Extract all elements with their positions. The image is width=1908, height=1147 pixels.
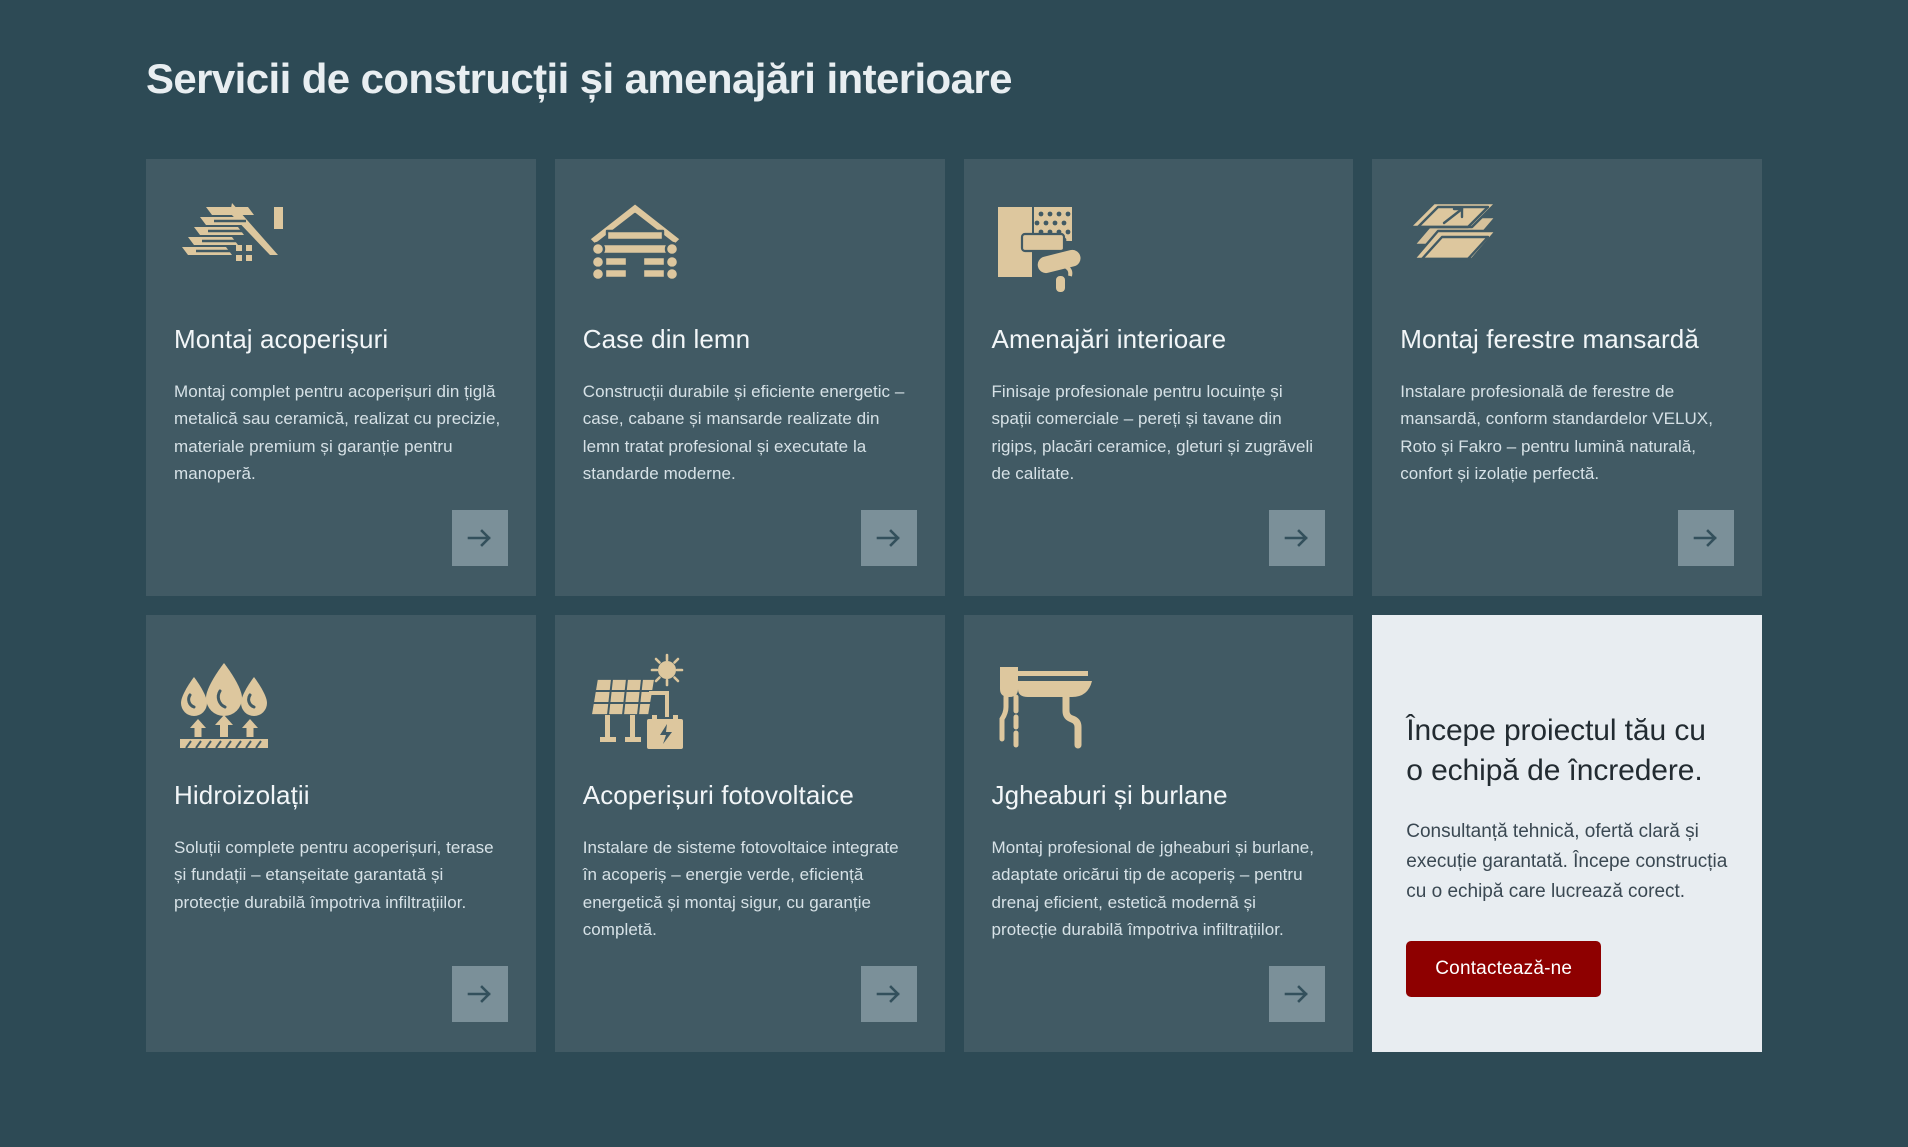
card-arrow-button[interactable] [1269, 510, 1325, 566]
paint-roller-icon [992, 197, 1326, 301]
arrow-right-icon [467, 528, 493, 548]
tiled-roof-house-icon [174, 197, 508, 301]
card-description: Montaj profesional de jgheaburi și burla… [992, 834, 1322, 944]
page-title: Servicii de construcții și amenajări int… [146, 0, 1762, 104]
services-grid: Montaj acoperișuri Montaj complet pentru… [146, 159, 1762, 1052]
cta-description: Consultanță tehnică, ofertă clară și exe… [1406, 817, 1728, 907]
service-card-case-din-lemn[interactable]: Case din lemn Construcții durabile și ef… [555, 159, 945, 596]
solar-panel-icon [583, 653, 917, 757]
card-arrow-button[interactable] [452, 966, 508, 1022]
card-arrow-button[interactable] [861, 510, 917, 566]
card-description: Construcții durabile și eficiente energe… [583, 378, 913, 488]
arrow-right-icon [876, 528, 902, 548]
card-description: Montaj complet pentru acoperișuri din ți… [174, 378, 504, 488]
cta-card: Începe proiectul tău cu o echipă de încr… [1372, 615, 1762, 1052]
card-title: Amenajări interioare [992, 323, 1326, 356]
service-card-hidroizolatii[interactable]: Hidroizolații Soluții complete pentru ac… [146, 615, 536, 1052]
service-card-jgheaburi-si-burlane[interactable]: Jgheaburi și burlane Montaj profesional … [964, 615, 1354, 1052]
service-card-amenajari-interioare[interactable]: Amenajări interioare Finisaje profesiona… [964, 159, 1354, 596]
card-description: Finisaje profesionale pentru locuințe și… [992, 378, 1322, 488]
service-card-montaj-acoperisuri[interactable]: Montaj acoperișuri Montaj complet pentru… [146, 159, 536, 596]
card-title: Montaj acoperișuri [174, 323, 508, 356]
arrow-right-icon [1284, 528, 1310, 548]
card-title: Acoperișuri fotovoltaice [583, 779, 917, 812]
contact-button[interactable]: Contactează-ne [1406, 941, 1601, 997]
card-title: Jgheaburi și burlane [992, 779, 1326, 812]
arrow-right-icon [1284, 984, 1310, 1004]
arrow-right-icon [467, 984, 493, 1004]
card-arrow-button[interactable] [452, 510, 508, 566]
card-title: Montaj ferestre mansardă [1400, 323, 1734, 356]
gutter-downpipe-icon [992, 653, 1326, 757]
arrow-right-icon [1693, 528, 1719, 548]
card-arrow-button[interactable] [1269, 966, 1325, 1022]
card-title: Hidroizolații [174, 779, 508, 812]
card-description: Instalare profesională de ferestre de ma… [1400, 378, 1730, 488]
skylight-window-icon [1400, 197, 1734, 301]
services-page: Servicii de construcții și amenajări int… [0, 0, 1908, 1147]
log-cabin-icon [583, 197, 917, 301]
cta-title: Începe proiectul tău cu o echipă de încr… [1406, 711, 1728, 791]
arrow-right-icon [876, 984, 902, 1004]
card-title: Case din lemn [583, 323, 917, 356]
waterproofing-droplets-icon [174, 653, 508, 757]
service-card-acoperisuri-fotovoltaice[interactable]: Acoperișuri fotovoltaice Instalare de si… [555, 615, 945, 1052]
service-card-montaj-ferestre-mansarda[interactable]: Montaj ferestre mansardă Instalare profe… [1372, 159, 1762, 596]
card-description: Instalare de sisteme fotovoltaice integr… [583, 834, 913, 944]
card-arrow-button[interactable] [1678, 510, 1734, 566]
card-description: Soluții complete pentru acoperișuri, ter… [174, 834, 504, 917]
card-arrow-button[interactable] [861, 966, 917, 1022]
